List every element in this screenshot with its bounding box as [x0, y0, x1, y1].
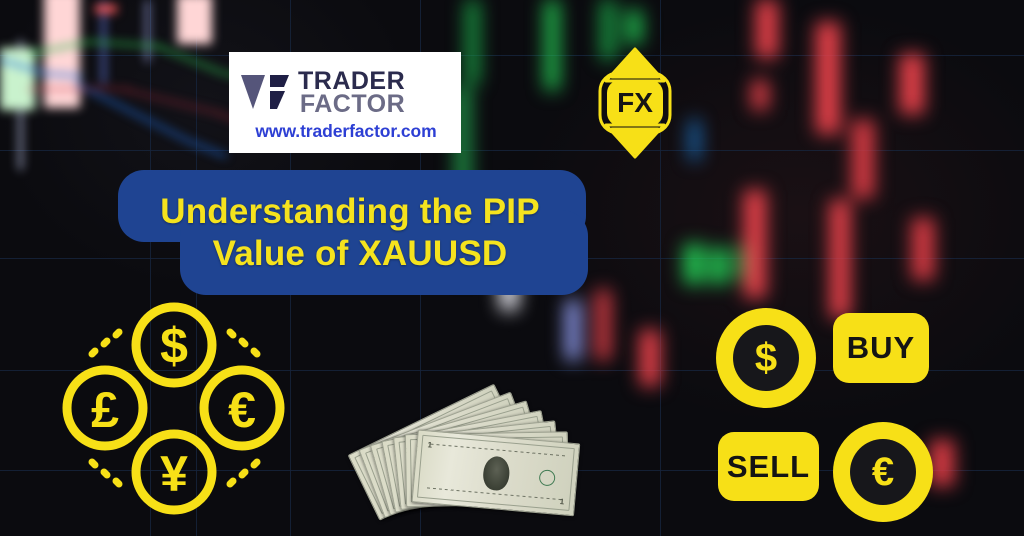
candle-bear — [930, 440, 954, 486]
candle-bear — [640, 330, 660, 386]
title-line-1: Understanding the PIP — [160, 191, 540, 233]
svg-text:$: $ — [160, 318, 188, 374]
svg-text:€: € — [228, 382, 256, 438]
us-dollar-banknote-fan: 11 11 11 11 11 11 11 — [372, 396, 596, 528]
euro-coin-button[interactable]: € — [833, 422, 933, 522]
candle-bull — [626, 10, 642, 44]
currency-coin-cluster: $ £ € ¥ — [62, 300, 286, 516]
title-line-2: Value of XAUUSD — [213, 233, 508, 275]
candle-bear — [756, 0, 778, 58]
candle-bear — [900, 54, 924, 114]
title-banner: Understanding the PIP Value of XAUUSD — [118, 170, 588, 295]
fx-badge: FX — [592, 47, 678, 159]
coin-dollar-icon: $ — [136, 307, 212, 383]
candle-bear — [912, 218, 934, 280]
candle-bull — [710, 248, 728, 284]
sell-button[interactable]: SELL — [718, 432, 819, 501]
candle-bear — [596, 290, 610, 360]
candle-bear — [816, 22, 840, 134]
svg-text:¥: ¥ — [160, 446, 188, 502]
candle-bear — [830, 200, 850, 318]
svg-text:£: £ — [91, 382, 119, 438]
title-text-block: Understanding the PIP Value of XAUUSD — [118, 170, 588, 295]
logo-word-factor: FACTOR — [300, 93, 405, 116]
euro-coin-symbol: € — [850, 439, 916, 505]
fx-badge-label: FX — [617, 87, 653, 118]
buy-button[interactable]: BUY — [833, 313, 929, 383]
traderfactor-vf-mark-icon — [239, 69, 291, 117]
logo-website-url: www.traderfactor.com — [239, 121, 453, 142]
fx-down-arrow-icon — [606, 125, 664, 157]
banknote: 11 — [412, 429, 581, 516]
candle-bull — [466, 0, 479, 84]
coin-pound-icon: £ — [67, 370, 143, 446]
promo-graphic-canvas: TRADER FACTOR www.traderfactor.com FX — [0, 0, 1024, 536]
candle-bear — [744, 190, 766, 298]
candle-bear — [752, 80, 768, 110]
trade-action-cluster: $ BUY SELL € — [716, 306, 932, 506]
candle-bear — [852, 120, 874, 198]
candle-wick — [566, 300, 580, 360]
candle-bull — [684, 244, 704, 284]
coin-yen-icon: ¥ — [136, 434, 212, 510]
dollar-coin-button[interactable]: $ — [716, 308, 816, 408]
candle-bull — [545, 0, 559, 90]
coin-euro-icon: € — [204, 370, 280, 446]
traderfactor-logo-card: TRADER FACTOR www.traderfactor.com — [229, 52, 461, 153]
fx-up-arrow-icon — [606, 49, 664, 81]
candle-line — [690, 120, 699, 160]
dollar-coin-symbol: $ — [733, 325, 799, 391]
